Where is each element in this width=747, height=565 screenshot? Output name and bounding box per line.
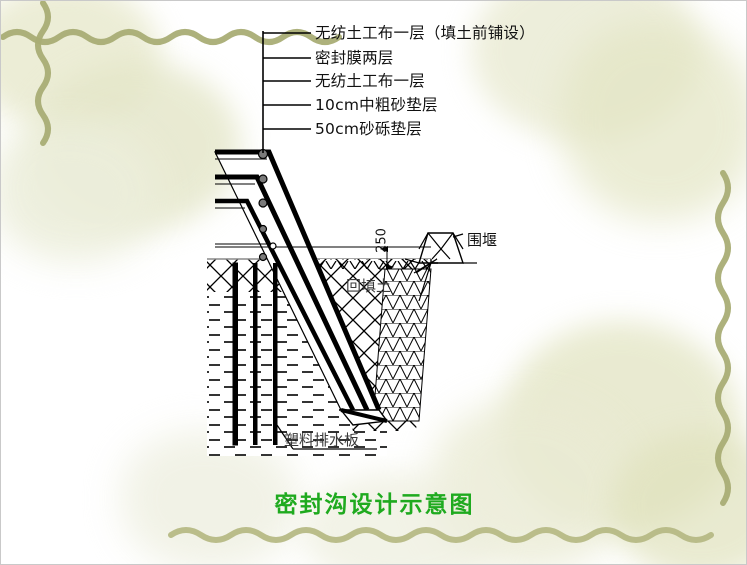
figure-title: 密封沟设计示意图 xyxy=(1,485,747,519)
callout-leaders xyxy=(263,31,311,153)
callout-label-1: 密封膜两层 xyxy=(315,46,394,68)
callout-label-4: 50cm砂砾垫层 xyxy=(315,117,422,139)
backfill-soil-label: 回填土 xyxy=(346,275,391,296)
reference-level-line xyxy=(215,243,431,249)
callout-label-0: 无纺土工布一层（填土前铺设） xyxy=(315,21,535,43)
slide-canvas: 无纺土工布一层（填土前铺设） 密封膜两层 无纺土工布一层 10cm中粗砂垫层 5… xyxy=(0,0,747,565)
dimension-250-label: 250 xyxy=(375,226,390,256)
callout-label-2: 无纺土工布一层 xyxy=(315,69,425,91)
callout-label-3: 10cm中粗砂垫层 xyxy=(315,93,438,115)
cofferdam-label: 围堰 xyxy=(467,229,497,250)
plastic-drainage-board-label: 塑料排水板 xyxy=(284,429,359,450)
